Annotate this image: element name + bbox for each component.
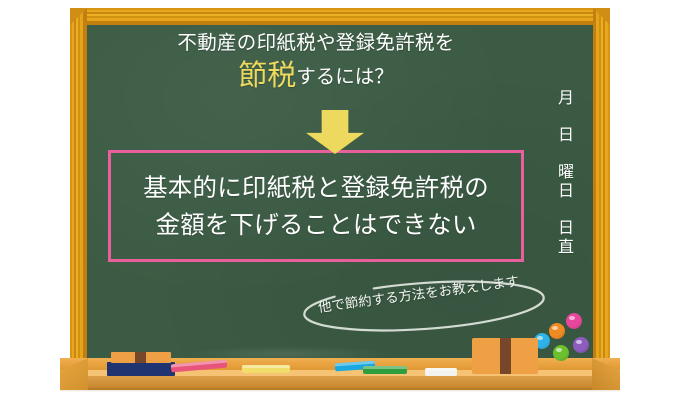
handwritten-note: 他で節約する方法をお教えします	[296, 278, 552, 334]
eraser-navy	[107, 352, 175, 376]
monitor-char-1: 日	[553, 218, 579, 237]
chalk-green	[363, 366, 407, 374]
magnet-green	[553, 345, 569, 361]
date-column-item-month: 月	[553, 88, 579, 107]
frame-left	[70, 8, 87, 358]
message-line-2: 金額を下げることはできない	[143, 206, 489, 243]
chalkboard-illustration: 不動産の印紙税や登録免許税を 節税するには？ 基本的に印紙税と登録免許税の 金額…	[0, 0, 680, 400]
monitor-char-2: 直	[553, 237, 579, 256]
eraser-orange	[472, 338, 538, 374]
chalk-tray-shadow	[60, 388, 620, 392]
weekday-char-2: 日	[553, 181, 579, 200]
headline: 不動産の印紙税や登録免許税を 節税するには？	[96, 28, 536, 95]
date-column-item-monitor: 日 直	[553, 218, 579, 256]
chalk-yellow	[242, 365, 290, 373]
magnet-pink	[566, 313, 582, 329]
message-box: 基本的に印紙税と登録免許税の 金額を下げることはできない	[108, 150, 524, 262]
headline-line-1: 不動産の印紙税や登録免許税を	[96, 28, 536, 58]
date-column: 月 日 曜 日 日 直	[553, 88, 579, 274]
message-text: 基本的に印紙税と登録免許税の 金額を下げることはできない	[143, 169, 489, 243]
eraser-orange-grip	[500, 338, 511, 374]
date-column-item-day: 日	[553, 125, 579, 144]
headline-highlight: 節税	[238, 58, 296, 92]
weekday-char-1: 曜	[553, 162, 579, 181]
chalk-white	[425, 368, 457, 376]
headline-tail: するには？	[296, 65, 394, 88]
eraser-navy-grip	[135, 352, 146, 363]
frame-right	[593, 8, 610, 358]
date-column-item-weekday: 曜 日	[553, 162, 579, 200]
chalk-smudge	[182, 346, 392, 358]
message-line-1: 基本的に印紙税と登録免許税の	[143, 169, 489, 206]
frame-top	[70, 8, 610, 25]
eraser-navy-felt	[107, 362, 175, 376]
headline-line-2: 節税するには？	[96, 58, 536, 95]
magnet-orange	[549, 323, 565, 339]
magnet-purple	[573, 337, 589, 353]
